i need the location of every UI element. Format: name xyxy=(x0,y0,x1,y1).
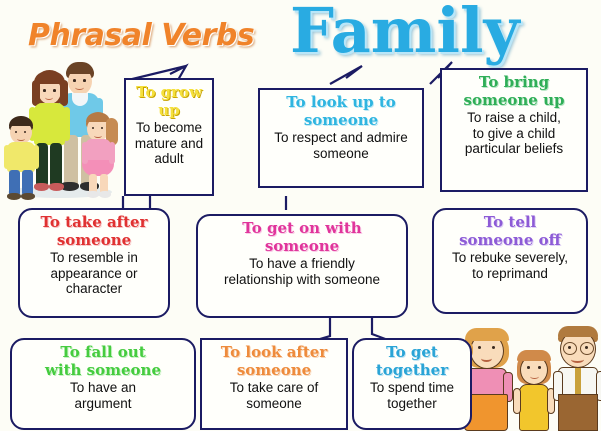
card-fall-out-with-someone[interactable]: To fall out with someone To have an argu… xyxy=(10,338,196,430)
card-tell-off-def-line2: to reprimand xyxy=(439,266,581,282)
card-fall-out-verb-line2: with someone xyxy=(17,362,189,379)
card-take-after-def-line1: To resemble in xyxy=(25,250,163,266)
card-look-up-to-def-line1: To respect and admire xyxy=(265,130,417,146)
card-bring-someone-up[interactable]: To bring someone up To raise a child, to… xyxy=(440,68,588,192)
card-fall-out-verb-line1: To fall out xyxy=(17,344,189,361)
figure-girl xyxy=(82,112,120,200)
card-look-up-to-verb-line2: someone xyxy=(265,112,417,129)
card-grow-up-def-line1: To become xyxy=(131,120,207,136)
figure-father-right xyxy=(553,326,601,431)
card-get-on-with-def-line2: relationship with someone xyxy=(203,272,401,288)
card-get-on-with-someone[interactable]: To get on with someone To have a friendl… xyxy=(196,214,408,318)
card-get-on-with-verb-line1: To get on with xyxy=(203,220,401,237)
card-look-after-someone[interactable]: To look after someone To take care of so… xyxy=(200,338,348,430)
card-fall-out-def-line1: To have an xyxy=(17,380,189,396)
card-take-after-def-line3: character xyxy=(25,281,163,297)
card-bring-up-def-line2: to give a child xyxy=(447,126,581,142)
card-grow-up-verb-line1: To grow xyxy=(131,84,207,101)
card-look-after-def-line1: To take care of xyxy=(207,380,341,396)
card-get-together[interactable]: To get together To spend time together xyxy=(352,338,472,430)
page-title-phrasal-verbs: Phrasal Verbs xyxy=(28,18,254,53)
card-take-after-someone[interactable]: To take after someone To resemble in app… xyxy=(18,208,170,318)
card-take-after-def-line2: appearance or xyxy=(25,266,163,282)
figure-boy xyxy=(4,116,40,200)
card-grow-up-verb-line2: up xyxy=(131,102,207,119)
card-grow-up-def-line3: adult xyxy=(131,151,207,167)
card-bring-up-verb-line2: someone up xyxy=(447,92,581,109)
card-get-together-verb-line1: To get xyxy=(359,344,465,361)
card-tell-off-verb-line1: To tell xyxy=(439,214,581,231)
card-get-together-def-line1: To spend time xyxy=(359,380,465,396)
card-look-after-def-line2: someone xyxy=(207,396,341,412)
card-get-on-with-verb-line2: someone xyxy=(203,238,401,255)
card-take-after-verb-line2: someone xyxy=(25,232,163,249)
illustration-family-right xyxy=(455,326,601,431)
illustration-family-left xyxy=(2,60,120,202)
card-look-up-to-someone[interactable]: To look up to someone To respect and adm… xyxy=(258,88,424,188)
card-tell-off-def-line1: To rebuke severely, xyxy=(439,250,581,266)
card-look-after-verb-line1: To look after xyxy=(207,344,341,361)
card-look-up-to-def-line2: someone xyxy=(265,146,417,162)
card-take-after-verb-line1: To take after xyxy=(25,214,163,231)
card-fall-out-def-line2: argument xyxy=(17,396,189,412)
card-get-together-verb-line2: together xyxy=(359,362,465,379)
card-bring-up-def-line3: particular beliefs xyxy=(447,141,581,157)
card-grow-up-def-line2: mature and xyxy=(131,136,207,152)
card-bring-up-verb-line1: To bring xyxy=(447,74,581,91)
card-get-together-def-line2: together xyxy=(359,396,465,412)
card-bring-up-def-line1: To raise a child, xyxy=(447,110,581,126)
card-look-after-verb-line2: someone xyxy=(207,362,341,379)
figure-daughter-right xyxy=(513,350,557,431)
page-title-family: Family xyxy=(290,0,520,67)
card-tell-someone-off[interactable]: To tell someone off To rebuke severely, … xyxy=(432,208,588,314)
card-look-up-to-verb-line1: To look up to xyxy=(265,94,417,111)
card-get-on-with-def-line1: To have a friendly xyxy=(203,256,401,272)
infographic-canvas: Phrasal Verbs Family xyxy=(0,0,601,431)
card-grow-up[interactable]: To grow up To become mature and adult xyxy=(124,78,214,196)
card-tell-off-verb-line2: someone off xyxy=(439,232,581,249)
